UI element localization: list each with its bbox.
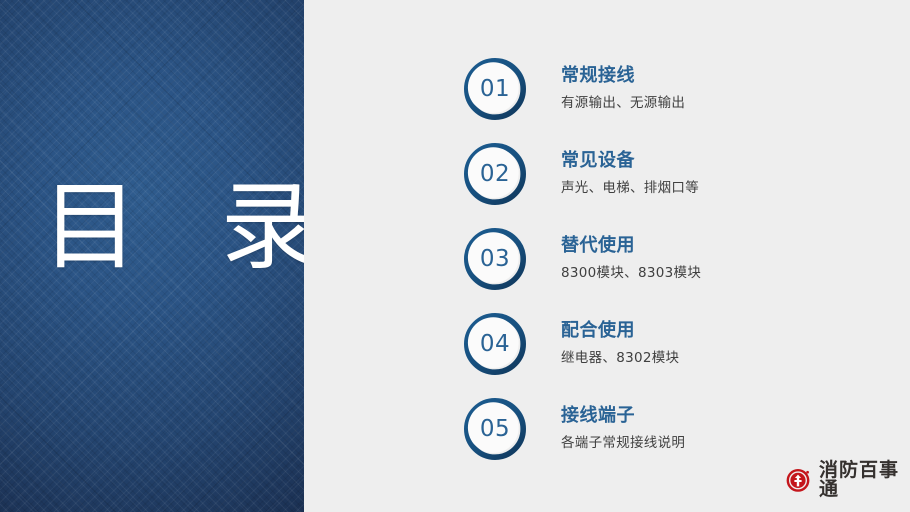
list-item-subtitle: 声光、电梯、排烟口等 <box>561 180 699 197</box>
list-item-text: 接线端子 各端子常规接线说明 <box>561 405 685 451</box>
list-item-subtitle: 8300模块、8303模块 <box>561 265 701 282</box>
number-badge-label: 04 <box>464 313 526 375</box>
number-badge-label: 03 <box>464 228 526 290</box>
list-item-title: 配合使用 <box>561 320 679 343</box>
number-badge-label: 02 <box>464 143 526 205</box>
list-item[interactable]: 01 常规接线 有源输出、无源输出 <box>464 46 894 131</box>
list-item-subtitle: 继电器、8302模块 <box>561 350 679 367</box>
list-item[interactable]: 03 替代使用 8300模块、8303模块 <box>464 216 894 301</box>
list-item-title: 替代使用 <box>561 235 701 258</box>
fire-safety-circle-icon <box>786 467 812 493</box>
list-item[interactable]: 04 配合使用 继电器、8302模块 <box>464 301 894 386</box>
left-title-panel: 目 录 <box>0 0 304 512</box>
number-badge-label: 01 <box>464 58 526 120</box>
list-item-text: 替代使用 8300模块、8303模块 <box>561 235 701 281</box>
table-of-contents-list: 01 常规接线 有源输出、无源输出 <box>464 46 894 471</box>
list-item-text: 常见设备 声光、电梯、排烟口等 <box>561 150 699 196</box>
number-badge-icon: 03 <box>464 228 526 290</box>
list-item-title: 常规接线 <box>561 65 685 88</box>
list-item-title: 常见设备 <box>561 150 699 173</box>
brand-logo-text: 消防百事通 <box>819 461 910 499</box>
list-item-title: 接线端子 <box>561 405 685 428</box>
page-title: 目 录 <box>42 178 304 278</box>
list-item-text: 常规接线 有源输出、无源输出 <box>561 65 685 111</box>
brand-logo: 消防百事通 <box>786 461 910 499</box>
slide-root: 目 录 <box>0 0 910 512</box>
number-badge-label: 05 <box>464 398 526 460</box>
number-badge-icon: 04 <box>464 313 526 375</box>
number-badge-icon: 01 <box>464 58 526 120</box>
list-item[interactable]: 02 常见设备 声光、电梯、排烟口等 <box>464 131 894 216</box>
right-content-panel: 01 常规接线 有源输出、无源输出 <box>304 0 910 512</box>
list-item-subtitle: 各端子常规接线说明 <box>561 435 685 452</box>
list-item-text: 配合使用 继电器、8302模块 <box>561 320 679 366</box>
number-badge-icon: 05 <box>464 398 526 460</box>
list-item-subtitle: 有源输出、无源输出 <box>561 95 685 112</box>
number-badge-icon: 02 <box>464 143 526 205</box>
